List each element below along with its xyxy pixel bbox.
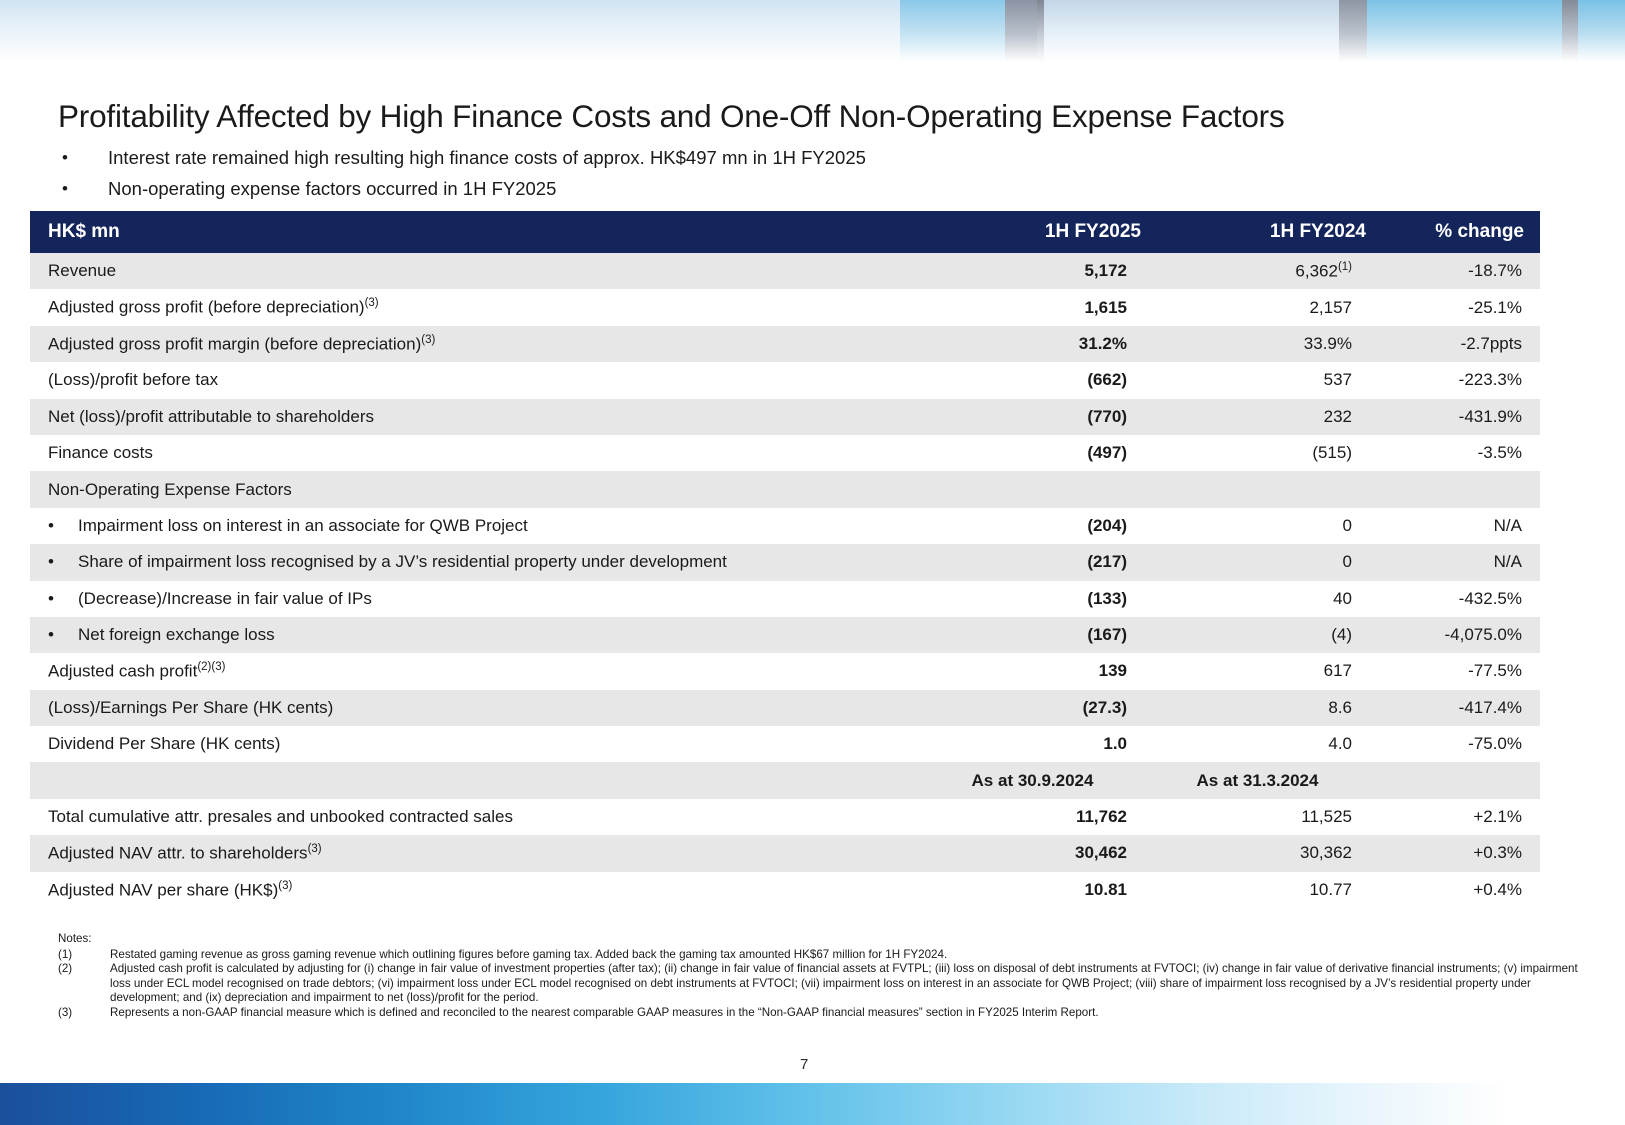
table-row: Adjusted gross profit margin (before dep… — [30, 326, 1540, 362]
row-value-fy2024: 537 — [1145, 362, 1370, 398]
top-decorative-banner — [0, 0, 1625, 62]
row-value-change: N/A — [1370, 508, 1540, 544]
banner-segment — [1044, 0, 1339, 62]
row-label: Adjusted NAV per share (HK$)(3) — [30, 872, 920, 908]
banner-segment — [1578, 0, 1625, 62]
note-number: (2) — [58, 962, 110, 977]
table-row: (Loss)/Earnings Per Share (HK cents)(27.… — [30, 690, 1540, 726]
row-label: Adjusted gross profit margin (before dep… — [30, 326, 920, 362]
row-value-fy2024: (515) — [1145, 435, 1370, 471]
row-value-fy2025: 31.2% — [920, 326, 1145, 362]
row-label: Finance costs — [30, 435, 920, 471]
row-value-fy2024: 617 — [1145, 653, 1370, 689]
financial-summary-table: HK$ mn 1H FY2025 1H FY2024 % change Reve… — [30, 211, 1540, 908]
row-label: Non-Operating Expense Factors — [30, 471, 920, 507]
row-label-footnote-marker: (3) — [365, 297, 379, 309]
row-label-text: Net (loss)/profit attributable to shareh… — [48, 407, 374, 426]
table-header: HK$ mn 1H FY2025 1H FY2024 % change — [30, 211, 1540, 253]
notes-heading: Notes: — [58, 932, 1578, 947]
page-number: 7 — [800, 1056, 808, 1073]
banner-segment — [1339, 0, 1367, 62]
row-value-fy2025: (662) — [920, 362, 1145, 398]
table-row: Revenue5,1726,362(1)-18.7% — [30, 253, 1540, 289]
row-value-fy2025: 139 — [920, 653, 1145, 689]
notes-list: (1)Restated gaming revenue as gross gami… — [58, 948, 1578, 1021]
table-row: •(Decrease)/Increase in fair value of IP… — [30, 581, 1540, 617]
slide-bullet-item: • Non-operating expense factors occurred… — [62, 173, 1512, 204]
note-item: (3)Represents a non-GAAP financial measu… — [58, 1006, 1578, 1021]
row-label-text: Impairment loss on interest in an associ… — [78, 516, 528, 535]
note-number: (3) — [58, 1006, 110, 1021]
banner-segment — [1367, 0, 1562, 62]
column-header-fy2024: 1H FY2024 — [1145, 211, 1370, 253]
row-value-change: -432.5% — [1370, 581, 1540, 617]
table-row: Finance costs(497)(515)-3.5% — [30, 435, 1540, 471]
slide-title: Profitability Affected by High Finance C… — [58, 98, 1285, 135]
row-value-change: -18.7% — [1370, 253, 1540, 289]
row-label: Dividend Per Share (HK cents) — [30, 726, 920, 762]
table-row: Adjusted gross profit (before depreciati… — [30, 289, 1540, 325]
banner-segment — [0, 0, 930, 62]
row-label-text: Non-Operating Expense Factors — [48, 480, 292, 499]
note-text: Restated gaming revenue as gross gaming … — [110, 948, 1578, 963]
row-value-change: +0.3% — [1370, 835, 1540, 871]
row-label-text: Dividend Per Share (HK cents) — [48, 734, 280, 753]
row-value-fy2024: 4.0 — [1145, 726, 1370, 762]
row-value-fy2025: 11,762 — [920, 799, 1145, 835]
row-label-text: Share of impairment loss recognised by a… — [78, 552, 727, 571]
row-label: (Loss)/Earnings Per Share (HK cents) — [30, 690, 920, 726]
table-row: Net (loss)/profit attributable to shareh… — [30, 399, 1540, 435]
row-value-fy2025: 5,172 — [920, 253, 1145, 289]
banner-segment — [1005, 0, 1037, 62]
row-value-change: -417.4% — [1370, 690, 1540, 726]
row-label-text: Finance costs — [48, 443, 153, 462]
row-value-fy2024: 0 — [1145, 544, 1370, 580]
row-label-footnote-marker: (3) — [421, 334, 435, 346]
table-row: Dividend Per Share (HK cents)1.04.0-75.0… — [30, 726, 1540, 762]
row-value-fy2025: 10.81 — [920, 872, 1145, 908]
table-row: (Loss)/profit before tax(662)537-223.3% — [30, 362, 1540, 398]
row-label-text: Adjusted gross profit (before depreciati… — [48, 298, 365, 317]
row-value-fy2024: 10.77 — [1145, 872, 1370, 908]
table-row: •Net foreign exchange loss(167)(4)-4,075… — [30, 617, 1540, 653]
row-label: Adjusted cash profit(2)(3) — [30, 653, 920, 689]
row-label-text: Revenue — [48, 261, 116, 280]
table-header-row: HK$ mn 1H FY2025 1H FY2024 % change — [30, 211, 1540, 253]
row-value-change: -4,075.0% — [1370, 617, 1540, 653]
row-value-fy2024: 40 — [1145, 581, 1370, 617]
table-row: Adjusted cash profit(2)(3)139617-77.5% — [30, 653, 1540, 689]
row-value-fy2025: (27.3) — [920, 690, 1145, 726]
row-label: Adjusted NAV attr. to shareholders(3) — [30, 835, 920, 871]
bottom-decorative-bar — [0, 1083, 1625, 1125]
row-label-text: Net foreign exchange loss — [78, 625, 275, 644]
notes-section: Notes: (1)Restated gaming revenue as gro… — [58, 932, 1578, 1021]
row-label: •Impairment loss on interest in an assoc… — [30, 508, 920, 544]
row-label-text: Total cumulative attr. presales and unbo… — [48, 807, 513, 826]
row-label-text: (Decrease)/Increase in fair value of IPs — [78, 589, 372, 608]
note-item: (2)Adjusted cash profit is calculated by… — [58, 962, 1578, 1006]
slide-bullet-text: Interest rate remained high resulting hi… — [108, 142, 866, 173]
slide-bullet-item: • Interest rate remained high resulting … — [62, 142, 1512, 173]
row-value-fy2024: 33.9% — [1145, 326, 1370, 362]
row-value-fy2024: 30,362 — [1145, 835, 1370, 871]
row-value-change: -2.7ppts — [1370, 326, 1540, 362]
row-value-fy2024: 6,362(1) — [1145, 253, 1370, 289]
bottom-bar-right-mask — [1505, 1083, 1625, 1125]
row-value-change: -3.5% — [1370, 435, 1540, 471]
row-value-fy2024: 11,525 — [1145, 799, 1370, 835]
row-value-footnote-marker: (1) — [1338, 261, 1352, 273]
row-label-text: Adjusted NAV attr. to shareholders — [48, 844, 308, 863]
row-value-change: +0.4% — [1370, 872, 1540, 908]
row-value-change — [1370, 471, 1540, 507]
row-bullet-dot-icon: • — [48, 552, 78, 572]
row-value-fy2024: 0 — [1145, 508, 1370, 544]
row-label-text: Adjusted gross profit margin (before dep… — [48, 334, 421, 353]
row-bullet-dot-icon: • — [48, 516, 78, 536]
slide-bullet-list: • Interest rate remained high resulting … — [62, 142, 1512, 204]
row-label-footnote-marker: (3) — [308, 843, 322, 855]
row-value-fy2025: (217) — [920, 544, 1145, 580]
row-value-fy2025: 30,462 — [920, 835, 1145, 871]
table-row: •Impairment loss on interest in an assoc… — [30, 508, 1540, 544]
banner-segment — [900, 0, 1010, 62]
bullet-dot-icon: • — [62, 142, 108, 173]
row-value-fy2024: 8.6 — [1145, 690, 1370, 726]
table-row: Total cumulative attr. presales and unbo… — [30, 799, 1540, 835]
row-value-fy2025: 1.0 — [920, 726, 1145, 762]
row-value-change: +2.1% — [1370, 799, 1540, 835]
row-subheader-period-prior: As at 31.3.2024 — [1145, 762, 1370, 798]
table-body: Revenue5,1726,362(1)-18.7%Adjusted gross… — [30, 253, 1540, 908]
row-bullet-dot-icon: • — [48, 625, 78, 645]
column-header-change: % change — [1370, 211, 1540, 253]
row-value-change: -431.9% — [1370, 399, 1540, 435]
row-value-fy2024 — [1145, 471, 1370, 507]
column-header-fy2025: 1H FY2025 — [920, 211, 1145, 253]
row-value-fy2024: 232 — [1145, 399, 1370, 435]
row-label-text: Adjusted NAV per share (HK$) — [48, 880, 278, 899]
row-label — [30, 762, 920, 798]
note-text: Represents a non-GAAP financial measure … — [110, 1006, 1578, 1021]
row-value-fy2025: (770) — [920, 399, 1145, 435]
slide-bullet-text: Non-operating expense factors occurred i… — [108, 173, 556, 204]
table-row: Adjusted NAV attr. to shareholders(3)30,… — [30, 835, 1540, 871]
row-label-footnote-marker: (2)(3) — [197, 661, 225, 673]
bullet-dot-icon: • — [62, 173, 108, 204]
note-text: Adjusted cash profit is calculated by ad… — [110, 962, 1578, 1006]
row-label: Net (loss)/profit attributable to shareh… — [30, 399, 920, 435]
row-value-fy2025: (497) — [920, 435, 1145, 471]
note-number: (1) — [58, 948, 110, 963]
row-label-text: Adjusted cash profit — [48, 662, 197, 681]
row-value-fy2025: 1,615 — [920, 289, 1145, 325]
row-value-change: -77.5% — [1370, 653, 1540, 689]
row-value-fy2025: (167) — [920, 617, 1145, 653]
row-value-change: -75.0% — [1370, 726, 1540, 762]
row-value-fy2025: (133) — [920, 581, 1145, 617]
row-bullet-dot-icon: • — [48, 589, 78, 609]
row-label-footnote-marker: (3) — [278, 880, 292, 892]
row-label: Revenue — [30, 253, 920, 289]
row-value-fy2025 — [920, 471, 1145, 507]
row-label: •Net foreign exchange loss — [30, 617, 920, 653]
row-label-text: (Loss)/profit before tax — [48, 370, 218, 389]
row-label: •Share of impairment loss recognised by … — [30, 544, 920, 580]
table-row: Adjusted NAV per share (HK$)(3)10.8110.7… — [30, 872, 1540, 908]
table-row: As at 30.9.2024As at 31.3.2024 — [30, 762, 1540, 798]
row-value-change: -223.3% — [1370, 362, 1540, 398]
row-label: Total cumulative attr. presales and unbo… — [30, 799, 920, 835]
row-value-fy2025: (204) — [920, 508, 1145, 544]
note-item: (1)Restated gaming revenue as gross gami… — [58, 948, 1578, 963]
row-subheader-period-current: As at 30.9.2024 — [920, 762, 1145, 798]
row-value-change: N/A — [1370, 544, 1540, 580]
row-value-fy2024: 2,157 — [1145, 289, 1370, 325]
table-row: Non-Operating Expense Factors — [30, 471, 1540, 507]
row-value-fy2024: (4) — [1145, 617, 1370, 653]
row-label: Adjusted gross profit (before depreciati… — [30, 289, 920, 325]
banner-segment — [1037, 0, 1044, 62]
table-row: •Share of impairment loss recognised by … — [30, 544, 1540, 580]
row-label: •(Decrease)/Increase in fair value of IP… — [30, 581, 920, 617]
row-value-change — [1370, 762, 1540, 798]
row-label-text: (Loss)/Earnings Per Share (HK cents) — [48, 698, 333, 717]
row-value-change: -25.1% — [1370, 289, 1540, 325]
row-label: (Loss)/profit before tax — [30, 362, 920, 398]
column-header-label: HK$ mn — [30, 211, 920, 253]
banner-segment — [1562, 0, 1578, 62]
